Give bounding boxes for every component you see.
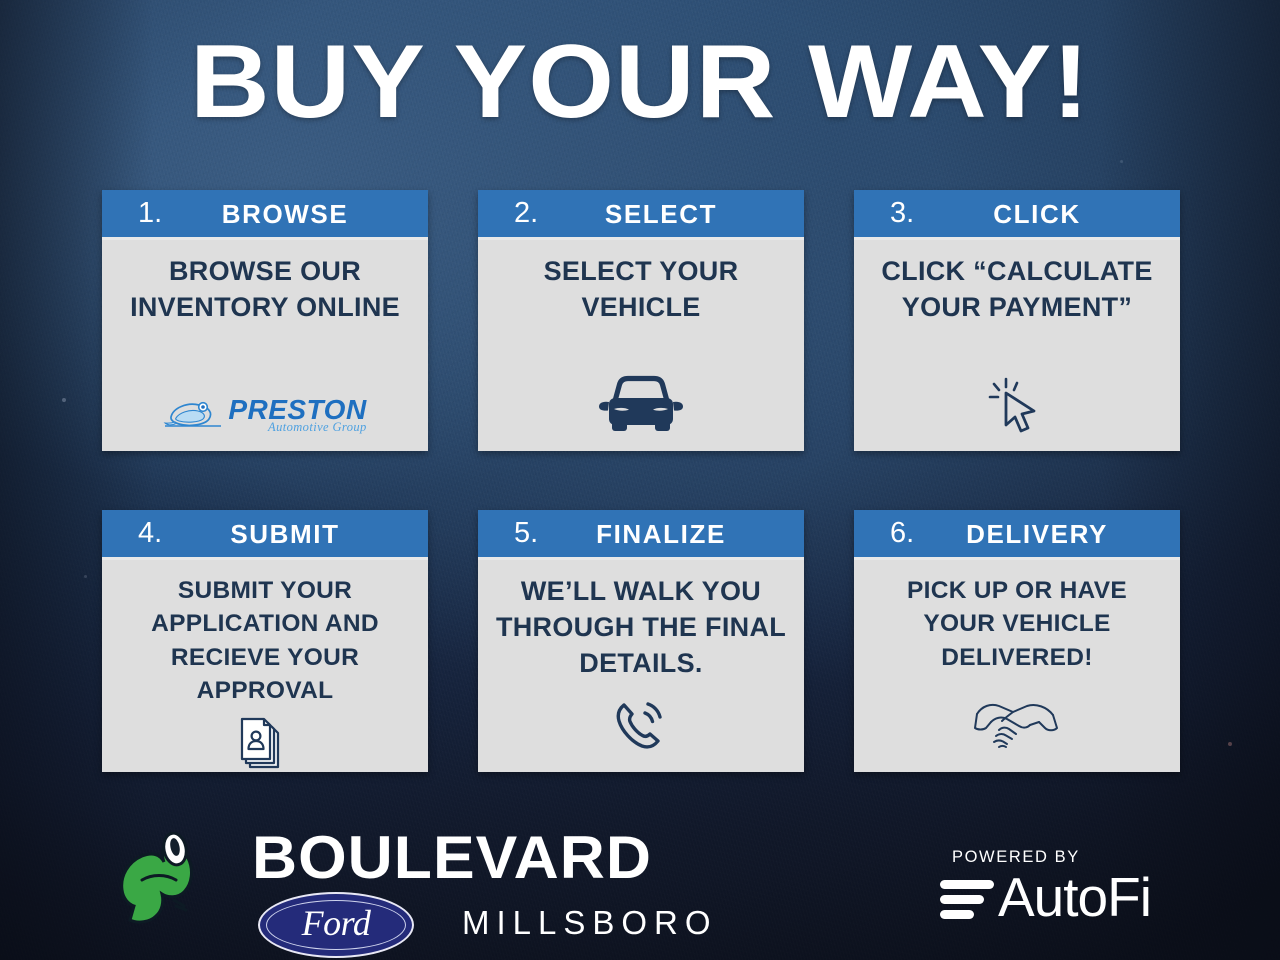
autofi-lockup: AutoFi [940, 870, 1200, 925]
application-document-icon [236, 713, 294, 773]
step-card-finalize[interactable]: 5. FINALIZE WE’LL WALK YOU THROUGH THE F… [478, 510, 804, 772]
step-card-select[interactable]: 2. SELECT SELECT YOUR VEHICLE [478, 190, 804, 451]
preston-wordmark: PRESTON Automotive Group [228, 396, 366, 434]
step-card-body: SELECT YOUR VEHICLE [478, 240, 804, 451]
step-title: SELECT [540, 201, 804, 227]
autofi-logo[interactable]: POWERED BY AutoFi [940, 848, 1200, 925]
step-number: 2. [478, 199, 540, 228]
step-icon [607, 688, 675, 760]
frog-logo-icon [163, 397, 225, 431]
step-description: PICK UP OR HAVE YOUR VEHICLE DELIVERED! [868, 574, 1166, 674]
step-card-submit[interactable]: 4. SUBMIT SUBMIT YOUR APPLICATION AND RE… [102, 510, 428, 772]
step-title: DELIVERY [916, 521, 1180, 547]
step-number: 6. [854, 519, 916, 548]
step-number: 5. [478, 519, 540, 548]
step-card-header: 2. SELECT [478, 190, 804, 240]
step-card-body: CLICK “CALCULATE YOUR PAYMENT” [854, 240, 1180, 451]
phone-ringing-icon [607, 692, 675, 756]
autofi-wordmark: AutoFi [998, 870, 1151, 925]
step-number: 4. [102, 519, 164, 548]
step-card-header: 6. DELIVERY [854, 510, 1180, 560]
step-card-browse[interactable]: 1. BROWSE BROWSE OUR INVENTORY ONLINE [102, 190, 428, 451]
car-front-icon [595, 371, 687, 435]
step-description: CLICK “CALCULATE YOUR PAYMENT” [868, 254, 1166, 326]
ford-wordmark: Ford [302, 905, 371, 945]
step-card-header: 5. FINALIZE [478, 510, 804, 560]
step-title: SUBMIT [164, 521, 428, 547]
step-title: BROWSE [164, 201, 428, 227]
footer: BOULEVARD Ford MILLSBORO POWERED BY Auto… [0, 810, 1280, 960]
steps-grid: 1. BROWSE BROWSE OUR INVENTORY ONLINE [102, 190, 1180, 772]
step-card-body: BROWSE OUR INVENTORY ONLINE PRESTON Auto… [102, 240, 428, 451]
step-description: BROWSE OUR INVENTORY ONLINE [116, 254, 414, 326]
step-title: FINALIZE [540, 521, 804, 547]
step-title: CLICK [916, 201, 1180, 227]
step-card-header: 4. SUBMIT [102, 510, 428, 560]
step-description: SUBMIT YOUR APPLICATION AND RECIEVE YOUR… [116, 574, 414, 707]
background-speck [1228, 742, 1232, 746]
step-number: 3. [854, 199, 916, 228]
step-number: 1. [102, 199, 164, 228]
ford-oval-logo: Ford [258, 892, 414, 958]
background-speck [1120, 160, 1123, 163]
page-title: BUY YOUR WAY! [0, 26, 1280, 138]
step-card-click[interactable]: 3. CLICK CLICK “CALCULATE YOUR PAYMENT” [854, 190, 1180, 451]
step-description: SELECT YOUR VEHICLE [492, 254, 790, 326]
step-card-body: SUBMIT YOUR APPLICATION AND RECIEVE YOUR… [102, 560, 428, 791]
step-card-header: 3. CLICK [854, 190, 1180, 240]
step-card-delivery[interactable]: 6. DELIVERY PICK UP OR HAVE YOUR VEHICLE… [854, 510, 1180, 772]
background-speck [84, 575, 87, 578]
step-card-body: WE’LL WALK YOU THROUGH THE FINAL DETAILS… [478, 560, 804, 772]
preston-automotive-group-logo: PRESTON Automotive Group [163, 396, 366, 434]
handshake-icon [969, 694, 1065, 754]
step-icon [236, 707, 294, 779]
step-description: WE’LL WALK YOU THROUGH THE FINAL DETAILS… [492, 574, 790, 682]
boulevard-ford-logo[interactable]: BOULEVARD Ford MILLSBORO [112, 820, 792, 950]
background-speck [62, 398, 66, 402]
dealer-location: MILLSBORO [462, 906, 718, 939]
ford-oval-inner-ring: Ford [266, 900, 406, 950]
powered-by-label: POWERED BY [952, 848, 1200, 866]
step-card-header: 1. BROWSE [102, 190, 428, 240]
step-card-body: PICK UP OR HAVE YOUR VEHICLE DELIVERED! [854, 560, 1180, 772]
step-icon [595, 367, 687, 439]
autofi-bars-icon [940, 877, 994, 919]
step-icon [969, 688, 1065, 760]
poster-canvas: BUY YOUR WAY! 1. BROWSE BROWSE OUR INVEN… [0, 0, 1280, 960]
boulevard-wordmark: BOULEVARD [252, 828, 652, 888]
cursor-click-icon [984, 371, 1050, 435]
frog-mascot-icon [112, 832, 222, 932]
step-icon [984, 367, 1050, 439]
